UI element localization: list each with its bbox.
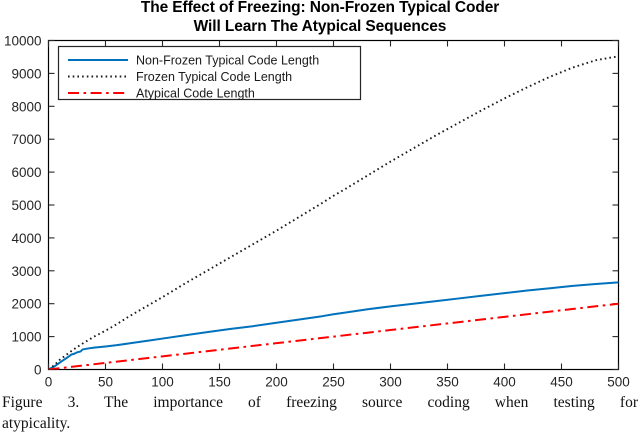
figure-caption-line2: atypicality. — [2, 413, 638, 434]
y-tick-label-0: 0 — [34, 363, 42, 378]
chart-plot: 050100150200250300350400450500 010002000… — [0, 0, 640, 392]
figure-container: The Effect of Freezing: Non-Frozen Typic… — [0, 0, 640, 444]
y-tick-label-10000: 10000 — [4, 34, 42, 49]
legend-label-0: Non-Frozen Typical Code Length — [136, 54, 319, 68]
x-tick-label-450: 450 — [550, 375, 573, 390]
x-tick-label-400: 400 — [493, 375, 516, 390]
figure-caption-line1: Figure 3. The importance of freezing sou… — [2, 392, 638, 413]
x-tick-label-0: 0 — [45, 375, 53, 390]
y-tick-label-4000: 4000 — [11, 231, 41, 246]
x-tick-label-350: 350 — [436, 375, 459, 390]
legend-label-2: Atypical Code Length — [136, 87, 255, 101]
y-tick-label-9000: 9000 — [11, 66, 41, 81]
x-tick-label-150: 150 — [208, 375, 231, 390]
y-tick-label-8000: 8000 — [11, 99, 41, 114]
y-axis-tick-labels: 0100020003000400050006000700080009000100… — [4, 34, 42, 378]
figure-caption: Figure 3. The importance of freezing sou… — [2, 392, 638, 434]
chart-legend: Non-Frozen Typical Code LengthFrozen Typ… — [59, 47, 361, 101]
legend-label-1: Frozen Typical Code Length — [136, 70, 292, 84]
y-tick-label-3000: 3000 — [11, 264, 41, 279]
y-tick-label-1000: 1000 — [11, 330, 41, 345]
x-tick-label-250: 250 — [322, 375, 345, 390]
y-tick-label-2000: 2000 — [11, 297, 41, 312]
y-tick-label-5000: 5000 — [11, 198, 41, 213]
y-tick-label-7000: 7000 — [11, 132, 41, 147]
y-tick-label-6000: 6000 — [11, 165, 41, 180]
x-axis-tick-labels: 050100150200250300350400450500 — [45, 375, 630, 390]
x-tick-label-300: 300 — [379, 375, 402, 390]
x-tick-label-100: 100 — [151, 375, 174, 390]
x-tick-label-500: 500 — [607, 375, 630, 390]
x-tick-label-200: 200 — [265, 375, 288, 390]
x-tick-label-50: 50 — [98, 375, 113, 390]
